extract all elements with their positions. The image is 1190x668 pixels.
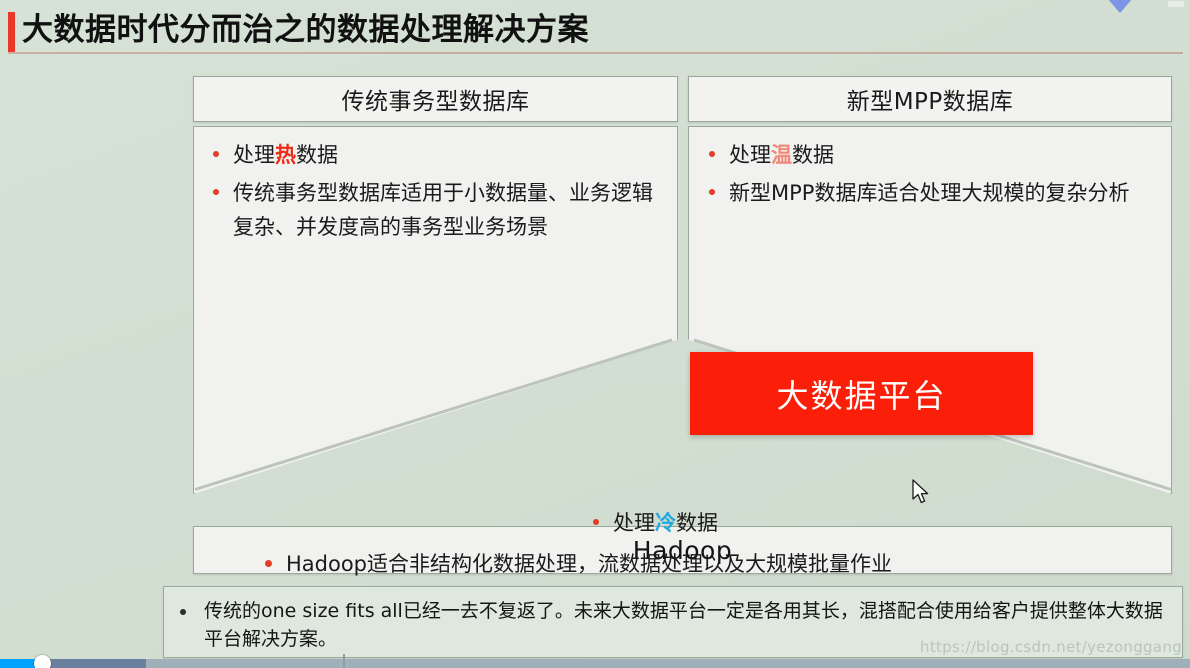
title-accent-bar xyxy=(8,12,15,52)
video-played-range xyxy=(0,659,38,668)
watermark-text: https://blog.csdn.net/yezonggang xyxy=(920,638,1182,656)
right-column-header: 新型MPP数据库 xyxy=(688,76,1172,122)
bullet-dot-icon xyxy=(213,189,219,195)
corner-marker xyxy=(1168,1,1184,7)
bullet-dot-icon xyxy=(709,189,715,195)
cold-data-bullet: 处理冷数据 xyxy=(589,507,718,539)
left-column-header-label: 传统事务型数据库 xyxy=(342,82,530,116)
big-data-platform-label: 大数据平台 xyxy=(776,371,946,417)
bullet-dot-icon xyxy=(709,151,715,157)
hot-data-keyword: 热 xyxy=(275,143,296,167)
cold-data-keyword: 冷 xyxy=(655,511,676,535)
left-column-header: 传统事务型数据库 xyxy=(193,76,678,122)
right-column-bullets: 处理温数据 新型MPP数据库适合处理大规模的复杂分析 xyxy=(705,138,1157,214)
list-item: 处理热数据 xyxy=(209,138,661,172)
left-bullet-1-text: 处理热数据 xyxy=(233,138,338,172)
page-title: 大数据时代分而治之的数据处理解决方案 xyxy=(0,8,1190,56)
title-divider xyxy=(8,52,1183,54)
video-chapter-divider xyxy=(343,654,345,668)
chevron-down-icon xyxy=(1094,0,1146,13)
bullet-dot-icon xyxy=(265,560,272,567)
big-data-platform-box: 大数据平台 xyxy=(690,352,1033,435)
bullet-dot-icon xyxy=(213,151,219,157)
cold-data-text: 处理冷数据 xyxy=(613,507,718,539)
hadoop-description-text: Hadoop适合非结构化数据处理，流数据处理以及大规模批量作业 xyxy=(286,548,892,580)
video-progress-bar[interactable] xyxy=(0,659,1190,668)
bullet-dot-icon xyxy=(593,519,599,525)
right-bullet-1-text: 处理温数据 xyxy=(729,138,834,172)
bullet-dot-icon xyxy=(180,609,186,615)
warm-data-keyword: 温 xyxy=(771,143,792,167)
right-column-header-label: 新型MPP数据库 xyxy=(847,82,1014,116)
list-item: 新型MPP数据库适合处理大规模的复杂分析 xyxy=(705,176,1157,210)
title-text: 大数据时代分而治之的数据处理解决方案 xyxy=(22,8,589,52)
left-bullet-2-text: 传统事务型数据库适用于小数据量、业务逻辑复杂、并发度高的事务型业务场景 xyxy=(233,176,661,244)
hadoop-description-bullet: Hadoop适合非结构化数据处理，流数据处理以及大规模批量作业 xyxy=(261,548,892,580)
left-column-bullets: 处理热数据 传统事务型数据库适用于小数据量、业务逻辑复杂、并发度高的事务型业务场… xyxy=(209,138,661,248)
list-item: 传统事务型数据库适用于小数据量、业务逻辑复杂、并发度高的事务型业务场景 xyxy=(209,176,661,244)
video-scrubber-handle[interactable] xyxy=(34,655,51,668)
list-item: 处理温数据 xyxy=(705,138,1157,172)
right-bullet-2-text: 新型MPP数据库适合处理大规模的复杂分析 xyxy=(729,176,1129,210)
slide-canvas: 大数据时代分而治之的数据处理解决方案 传统事务型数据库 新型MPP数据库 处理热… xyxy=(0,0,1190,668)
architecture-diagram: 传统事务型数据库 新型MPP数据库 处理热数据 传统事务型数据库适用于小数据量、… xyxy=(193,76,1170,576)
